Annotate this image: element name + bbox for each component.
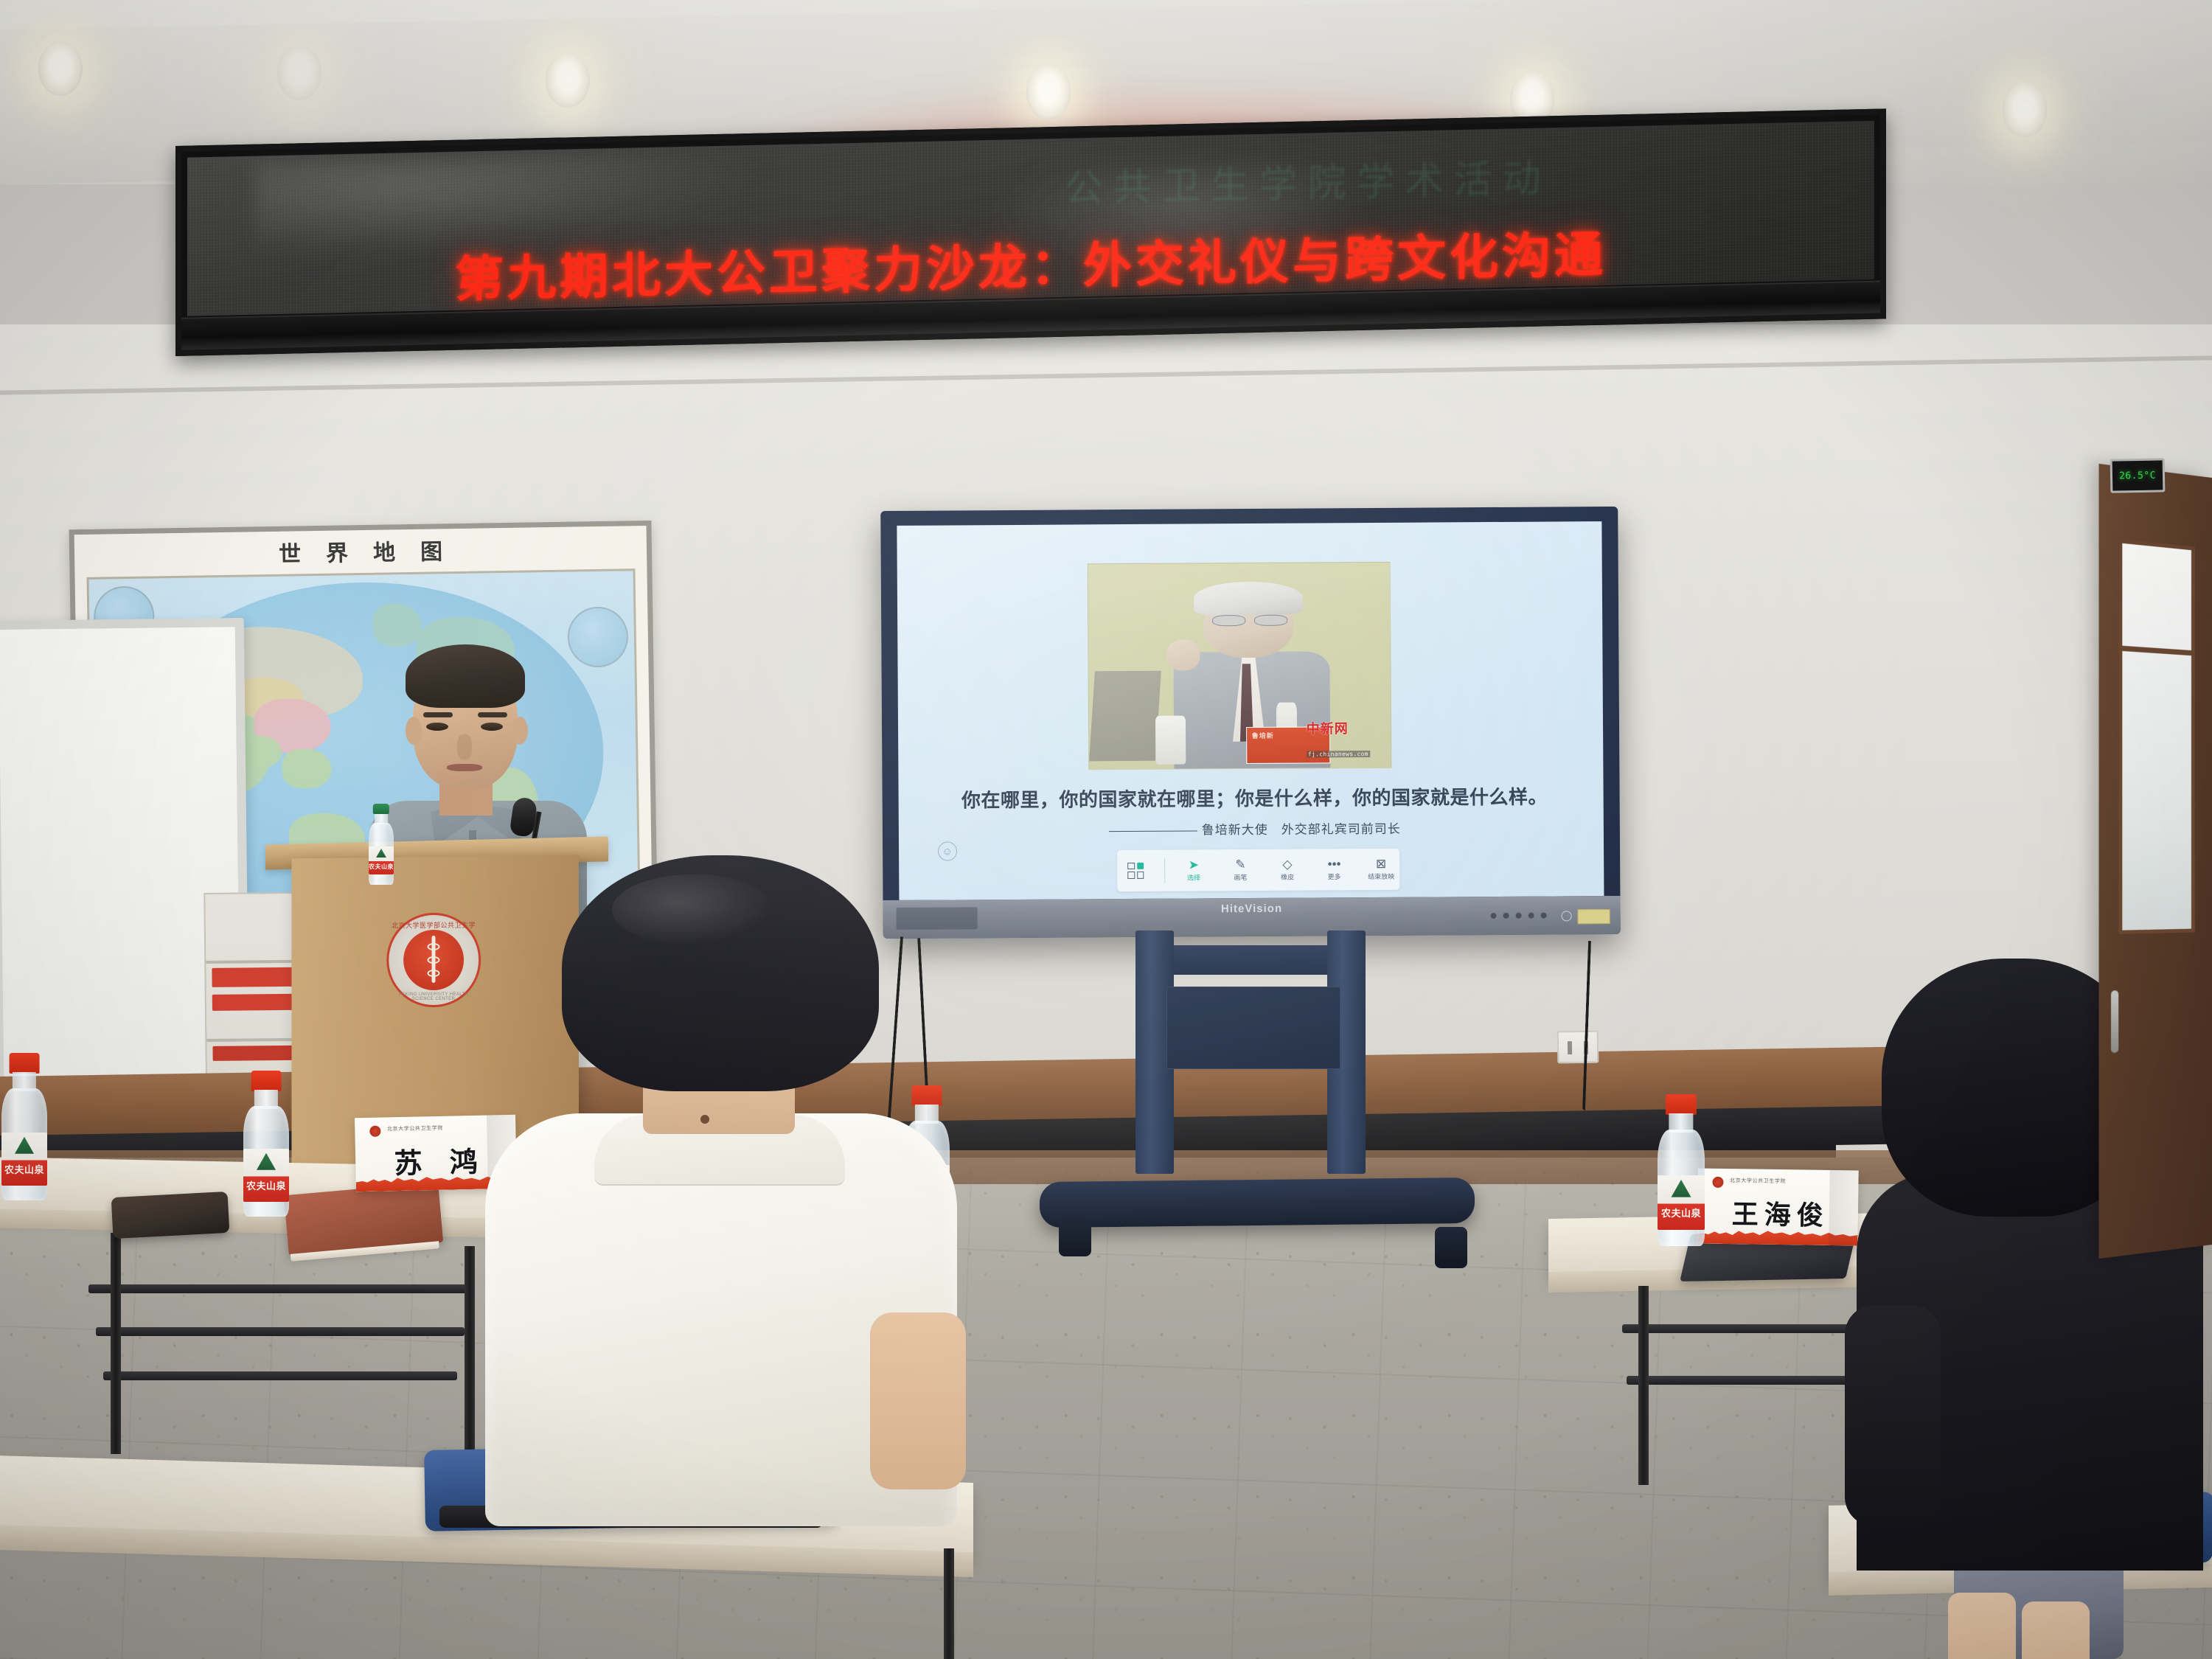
bottle-mountain-icon-left: [257, 1153, 276, 1170]
speaker-hair: [406, 644, 525, 708]
watermark-cn-text: 中新网: [1307, 718, 1349, 737]
door-handle[interactable]: [2111, 990, 2118, 1053]
bezel-button-3[interactable]: [1516, 913, 1522, 919]
display-stand-panel: [1166, 987, 1340, 1069]
photo-laptop: [1089, 670, 1161, 761]
display-warning-label: [1578, 909, 1610, 924]
eraser-icon: ◇: [1269, 858, 1306, 872]
bottle-right: 农夫山泉: [1658, 1094, 1705, 1246]
display-button-row[interactable]: [1491, 913, 1547, 919]
toolbar-exit-label: 结束放映: [1363, 872, 1399, 881]
speaker-ear-right: [512, 717, 528, 745]
woman-leg-right: [2022, 1601, 2090, 1659]
door-glass-panel: [2118, 539, 2195, 934]
bottle-cap-far-left: [10, 1053, 40, 1074]
attribution-dash: [1109, 830, 1197, 832]
pages-grid-icon: [1127, 863, 1144, 879]
serpent-coil-2-icon: [428, 956, 440, 964]
toolbar-more-button[interactable]: ••• 更多: [1316, 858, 1353, 882]
bottle-cap-left: [251, 1071, 282, 1091]
table-front-left-rail-1: [88, 1284, 472, 1293]
student-right-arm: [870, 1312, 966, 1489]
bottle-brand-left: 农夫山泉: [243, 1178, 289, 1192]
bezel-button-2[interactable]: [1503, 913, 1509, 919]
table-row2-left-leg-1: [944, 1548, 954, 1659]
pen-icon: ✎: [1222, 858, 1259, 872]
nameplate-left-logo-icon: [369, 1126, 380, 1137]
attribution-text: 鲁培新大使 外交部礼宾司前司长: [1202, 822, 1401, 838]
ceiling-downlight-1: [38, 41, 83, 96]
ceiling-downlight-2: [546, 53, 590, 108]
ceiling-downlight-5: [2003, 83, 2047, 137]
table-front-left-leg-1: [111, 1233, 121, 1454]
cursor-select-icon: ➤: [1175, 858, 1212, 873]
wall-temperature-display: 26.5°C: [2110, 458, 2166, 493]
woman-left-arm: [1845, 1305, 1941, 1526]
display-brand-logo: HiteVision: [1221, 902, 1282, 916]
toolbar-more-label: 更多: [1316, 872, 1353, 882]
presentation-toolbar[interactable]: ➤ 选择 ✎ 画笔 ◇ 橡皮 ••• 更多 ⊠ 结束放映: [1117, 849, 1399, 891]
bottle-label-podium: 农夫山泉: [369, 846, 394, 874]
serpent-coil-1-icon: [428, 943, 440, 950]
leather-notebook[interactable]: [284, 1182, 443, 1256]
bottle-brand-far-left: 农夫山泉: [1, 1162, 47, 1176]
display-screen[interactable]: 鲁培新 中新网 fj.chinanews.com 你在哪里，你的国家就在哪里；你…: [897, 521, 1604, 900]
nameplate-right: 北京大学公共卫生学院 王海俊: [1697, 1168, 1858, 1245]
toolbar-eraser-button[interactable]: ◇ 橡皮: [1269, 858, 1306, 882]
stand-caster-left: [1059, 1215, 1091, 1256]
nameplate-right-logo-icon: [1712, 1177, 1723, 1188]
table-front-left-rail-3: [103, 1371, 457, 1380]
photo-tea-cup: [1155, 715, 1186, 765]
bottle-brand-right: 农夫山泉: [1658, 1206, 1705, 1220]
slide-attribution: 鲁培新大使 外交部礼宾司前司长: [934, 818, 1576, 840]
bottle-podium: 农夫山泉: [369, 804, 394, 885]
bottle-far-left: 农夫山泉: [1, 1053, 47, 1200]
more-dots-icon: •••: [1316, 858, 1353, 872]
bottle-mountain-icon-far-left: [15, 1137, 34, 1154]
speaker-ear-left: [406, 717, 422, 745]
woman-leg-left: [1948, 1593, 2016, 1659]
slide-portrait-photo: 鲁培新 中新网 fj.chinanews.com: [1088, 562, 1392, 770]
watermark-url-text: fj.chinanews.com: [1307, 751, 1370, 758]
nameplate-right-org: 北京大学公共卫生学院: [1730, 1177, 1786, 1185]
toolbar-pen-button[interactable]: ✎ 画笔: [1222, 858, 1259, 882]
socket-slot-left: [1568, 1041, 1572, 1054]
map-land-sea: [282, 748, 332, 789]
bottle-cap-right: [1666, 1094, 1697, 1115]
nameplate-left-org: 北京大学公共卫生学院: [387, 1124, 443, 1133]
bottle-cap-podium: [373, 804, 389, 814]
toolbar-eraser-label: 橡皮: [1269, 872, 1306, 882]
toolbar-pen-label: 画笔: [1222, 872, 1259, 882]
room-door[interactable]: [2099, 464, 2212, 1259]
toolbar-pages-grid-button[interactable]: [1118, 863, 1155, 879]
bottle-mountain-icon-podium: [376, 849, 386, 858]
toolbar-exit-button[interactable]: ⊠ 结束放映: [1363, 857, 1399, 881]
speaker-brow-left: [423, 712, 453, 717]
serpent-coil-3-icon: [428, 970, 440, 977]
power-button-icon[interactable]: [1562, 911, 1572, 921]
toolbar-select-label: 选择: [1175, 873, 1212, 883]
wall-display-readout: 26.5°C: [2119, 470, 2156, 481]
wall-power-socket[interactable]: [1557, 1031, 1599, 1064]
speaker-person: [367, 640, 588, 861]
bezel-button-5[interactable]: [1541, 913, 1547, 919]
bottle-mountain-icon-right: [1672, 1180, 1691, 1197]
table-front-left-rail-2: [96, 1327, 465, 1336]
ceiling-downlight-3: [1026, 65, 1071, 119]
speaker-eye-right: [481, 723, 503, 731]
phone-in-case[interactable]: [111, 1192, 230, 1239]
photo-glasses-right: [1254, 614, 1287, 625]
photo-raised-hand: [1167, 639, 1200, 670]
led-banner-display: 公共卫生学院学术活动 第九期北大公卫聚力沙龙：外交礼仪与跨文化沟通: [175, 108, 1886, 356]
toolbar-separator: [1164, 858, 1165, 883]
toolbar-select-button[interactable]: ➤ 选择: [1175, 858, 1212, 883]
bottle-label-far-left: 农夫山泉: [1, 1133, 47, 1186]
slide-quote-text: 你在哪里，你的国家就在哪里；你是什么样，你的国家就是什么样。: [933, 782, 1575, 813]
news-watermark: 中新网 fj.chinanews.com: [1307, 718, 1385, 759]
display-stand-base: [1040, 1178, 1475, 1228]
bottle-label-left: 农夫山泉: [243, 1149, 289, 1202]
seminar-room-photo: 公共卫生学院学术活动 第九期北大公卫聚力沙龙：外交礼仪与跨文化沟通 世界地图 比…: [0, 0, 2212, 1659]
speaker-mouth: [447, 764, 482, 771]
emblem-center-medallion: [403, 930, 464, 990]
speaker-eye-left: [426, 723, 448, 731]
bottle-brand-podium: 农夫山泉: [369, 863, 394, 871]
speaker-nose: [457, 734, 472, 759]
map-hanger-right: [582, 521, 621, 524]
speaker-brow-right: [478, 712, 507, 717]
bezel-button-1[interactable]: [1491, 913, 1497, 919]
exit-show-icon: ⊠: [1363, 857, 1399, 872]
stand-caster-right: [1435, 1227, 1467, 1268]
student-neck-mole: [700, 1115, 709, 1124]
table-front-right-leg-1: [1638, 1286, 1649, 1485]
bottle-left: 农夫山泉: [243, 1071, 289, 1217]
bezel-button-4[interactable]: [1528, 913, 1534, 919]
display-bottom-bezel: HiteVision: [883, 896, 1620, 939]
bottle-label-right: 农夫山泉: [1658, 1175, 1705, 1230]
audience-student: [457, 855, 973, 1519]
student-hair-highlight: [612, 874, 774, 945]
interactive-smart-display[interactable]: 鲁培新 中新网 fj.chinanews.com 你在哪里，你的国家就在哪里；你…: [880, 507, 1621, 939]
ceiling-downlight-6: [277, 46, 321, 100]
photo-glasses-left: [1212, 615, 1245, 626]
world-map-title: 世界地图: [74, 530, 647, 571]
photo-hair: [1194, 582, 1303, 615]
